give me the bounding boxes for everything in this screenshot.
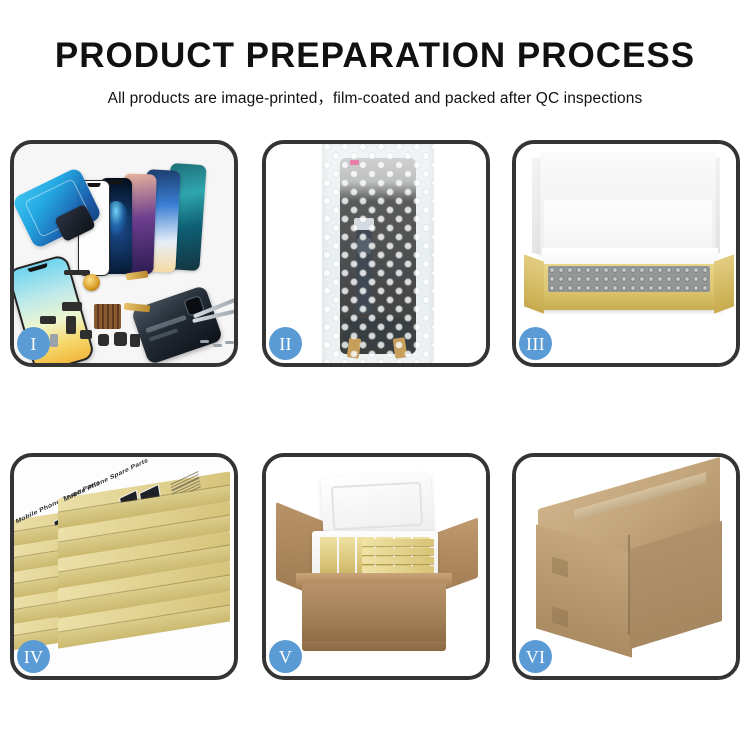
header: PRODUCT PREPARATION PROCESS All products… [0, 0, 750, 108]
step-2-illustration [266, 144, 486, 363]
step-numeral: V [279, 648, 292, 666]
step-badge: III [519, 327, 552, 360]
yellow-inner-box [536, 264, 722, 310]
process-step-5: V [262, 453, 490, 680]
page-title: PRODUCT PREPARATION PROCESS [0, 38, 750, 73]
step-badge: V [269, 640, 302, 673]
step-badge: IV [17, 640, 50, 673]
step-numeral: I [30, 335, 36, 353]
page-subtitle: All products are image-printed，film-coat… [0, 86, 750, 108]
bubble-wrapped-contents [548, 266, 710, 292]
housing-detail [145, 315, 186, 333]
step-5-illustration [266, 457, 486, 676]
bubble-texture [322, 142, 434, 367]
process-step-grid: I [10, 140, 742, 680]
step-badge: VI [519, 640, 552, 673]
step-numeral: II [279, 335, 292, 353]
box-stack-right: Mobile Phone Spare Parts [58, 485, 230, 665]
carton-corner-seam [628, 535, 630, 635]
step-1-illustration [14, 144, 234, 363]
process-step-1: I [10, 140, 238, 367]
step-badge: I [17, 327, 50, 360]
spare-part [130, 334, 140, 347]
step-numeral: IV [24, 648, 44, 666]
step-badge: II [269, 327, 302, 360]
step-6-illustration [516, 457, 736, 676]
step-4-illustration: Mobile Phone Spare Parts [14, 457, 234, 676]
tweezers-icon [192, 294, 238, 328]
copper-coil-icon [83, 274, 100, 291]
spare-parts-box [58, 605, 230, 635]
step-numeral: III [526, 335, 545, 353]
bubble-wrap-bag [322, 142, 434, 367]
process-step-3: III [512, 140, 740, 367]
spare-part [98, 334, 109, 346]
ic-chip-icon [94, 304, 121, 329]
spare-part [66, 316, 76, 334]
step-numeral: VI [526, 648, 546, 666]
product-preparation-infographic: PRODUCT PREPARATION PROCESS All products… [0, 0, 750, 750]
spare-part [40, 316, 56, 324]
process-step-6: VI [512, 453, 740, 680]
carton-front [302, 583, 446, 643]
foam-lid [320, 472, 433, 540]
process-step-4: Mobile Phone Spare Parts [10, 453, 238, 680]
screws-group [200, 340, 236, 354]
spare-part [114, 332, 127, 346]
spare-part [62, 302, 82, 311]
step-3-illustration [516, 144, 736, 363]
process-step-2: II [262, 140, 490, 367]
notch-icon [88, 183, 101, 187]
spare-part [64, 270, 90, 275]
spare-part [50, 334, 58, 347]
notch-icon [28, 263, 48, 272]
spare-part [80, 330, 92, 339]
notch-icon [110, 180, 123, 184]
